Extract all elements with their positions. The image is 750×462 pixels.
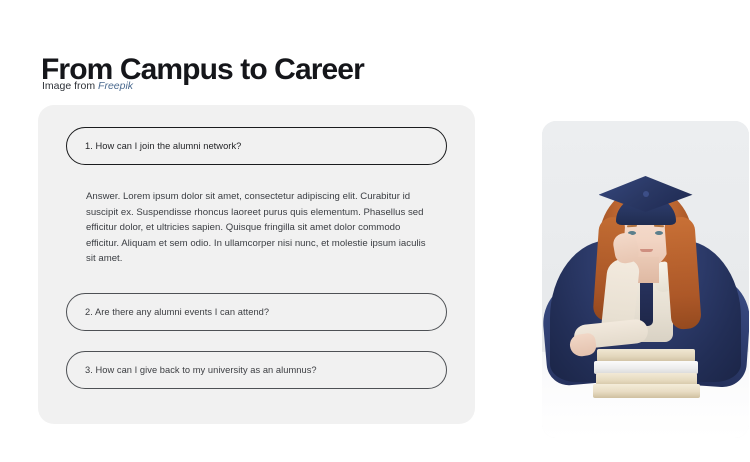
mortarboard-button [643,191,649,197]
faq-question-3[interactable]: 3. How can I give back to my university … [66,351,447,389]
image-credit: Image from Freepik [42,79,133,93]
book-bottom [593,384,700,398]
faq-answer-1: Answer. Lorem ipsum dolor sit amet, cons… [66,165,447,267]
faq-question-2[interactable]: 2. Are there any alumni events I can att… [66,293,447,331]
faq-item-2: 2. Are there any alumni events I can att… [66,293,447,331]
image-credit-prefix: Image from [42,80,95,92]
faq-question-1[interactable]: 1. How can I join the alumni network? [66,127,447,165]
faq-item-3: 3. How can I give back to my university … [66,351,447,389]
faq-spacer-1 [66,267,447,293]
faq-item-1: 1. How can I join the alumni network? An… [66,127,447,267]
faq-list: 1. How can I join the alumni network? An… [66,127,447,389]
eye-right [655,231,663,235]
graduate-photo [542,121,749,438]
mouth [640,249,653,252]
page-root: From Campus to Career Image from Freepik… [0,0,750,462]
photo-scene [542,121,749,438]
faq-spacer-2 [66,331,447,351]
faq-card: 1. How can I join the alumni network? An… [38,105,475,424]
freepik-link[interactable]: Freepik [98,80,133,92]
